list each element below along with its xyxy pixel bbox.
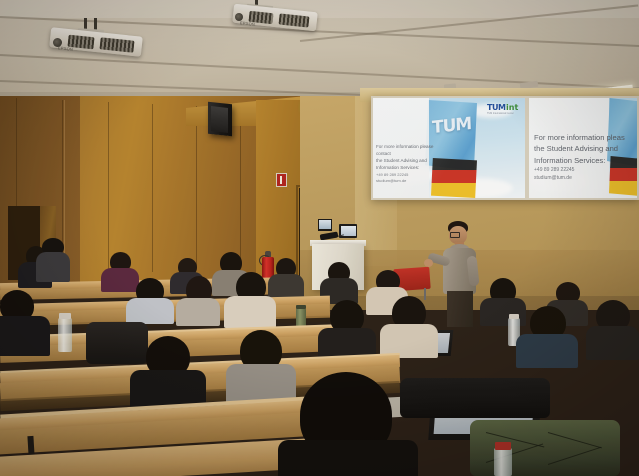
screen-glare bbox=[529, 98, 637, 198]
audience-body-foreground bbox=[278, 440, 418, 476]
presenter-legs bbox=[447, 291, 473, 327]
projector-left: EPSON bbox=[50, 18, 150, 58]
audience-body bbox=[586, 326, 639, 360]
wall-monitor-screen bbox=[319, 220, 331, 229]
slide-left: TUM For more information please contact … bbox=[373, 98, 525, 198]
audience-body bbox=[36, 252, 70, 282]
water-bottle-front bbox=[494, 448, 512, 476]
bottle-cap bbox=[59, 313, 71, 319]
audience-body bbox=[516, 334, 578, 368]
black-bag bbox=[400, 378, 550, 418]
audience-body bbox=[176, 298, 220, 326]
screen-glare bbox=[373, 98, 525, 198]
wood-seam bbox=[152, 104, 153, 272]
thermos-cap bbox=[296, 305, 306, 309]
audience-body bbox=[268, 274, 304, 298]
projection-screen-left: TUM For more information please contact … bbox=[373, 98, 525, 198]
water-bottle bbox=[58, 318, 72, 352]
audience-body bbox=[126, 298, 174, 324]
bench-bracket bbox=[27, 436, 34, 456]
fire-sign-glyph bbox=[280, 176, 282, 184]
presenter-glasses bbox=[450, 232, 460, 238]
fire-equipment-sign bbox=[276, 173, 287, 187]
wood-seam bbox=[196, 106, 197, 268]
lecture-hall-photo: EPSON EPSON bbox=[0, 0, 639, 476]
chair-leg bbox=[424, 288, 426, 300]
audience-body bbox=[0, 316, 50, 356]
projector-brand-label: EPSON bbox=[58, 45, 73, 52]
audience-body bbox=[101, 268, 139, 292]
wood-seam bbox=[108, 102, 109, 274]
bottle-cap-red bbox=[495, 442, 511, 450]
bottle-cap bbox=[509, 314, 519, 319]
wood-seam bbox=[240, 106, 241, 264]
audience-body bbox=[224, 296, 276, 328]
slide-right: For more information pleas the Student A… bbox=[529, 98, 637, 198]
projector-brand-label: EPSON bbox=[240, 20, 255, 27]
wood-seam bbox=[64, 100, 65, 276]
projection-screen-right: For more information pleas the Student A… bbox=[529, 98, 637, 198]
wall-speaker-face bbox=[211, 106, 228, 133]
presenter-hand bbox=[424, 259, 433, 267]
backpack bbox=[86, 322, 148, 364]
projector-right: EPSON bbox=[233, 0, 343, 34]
